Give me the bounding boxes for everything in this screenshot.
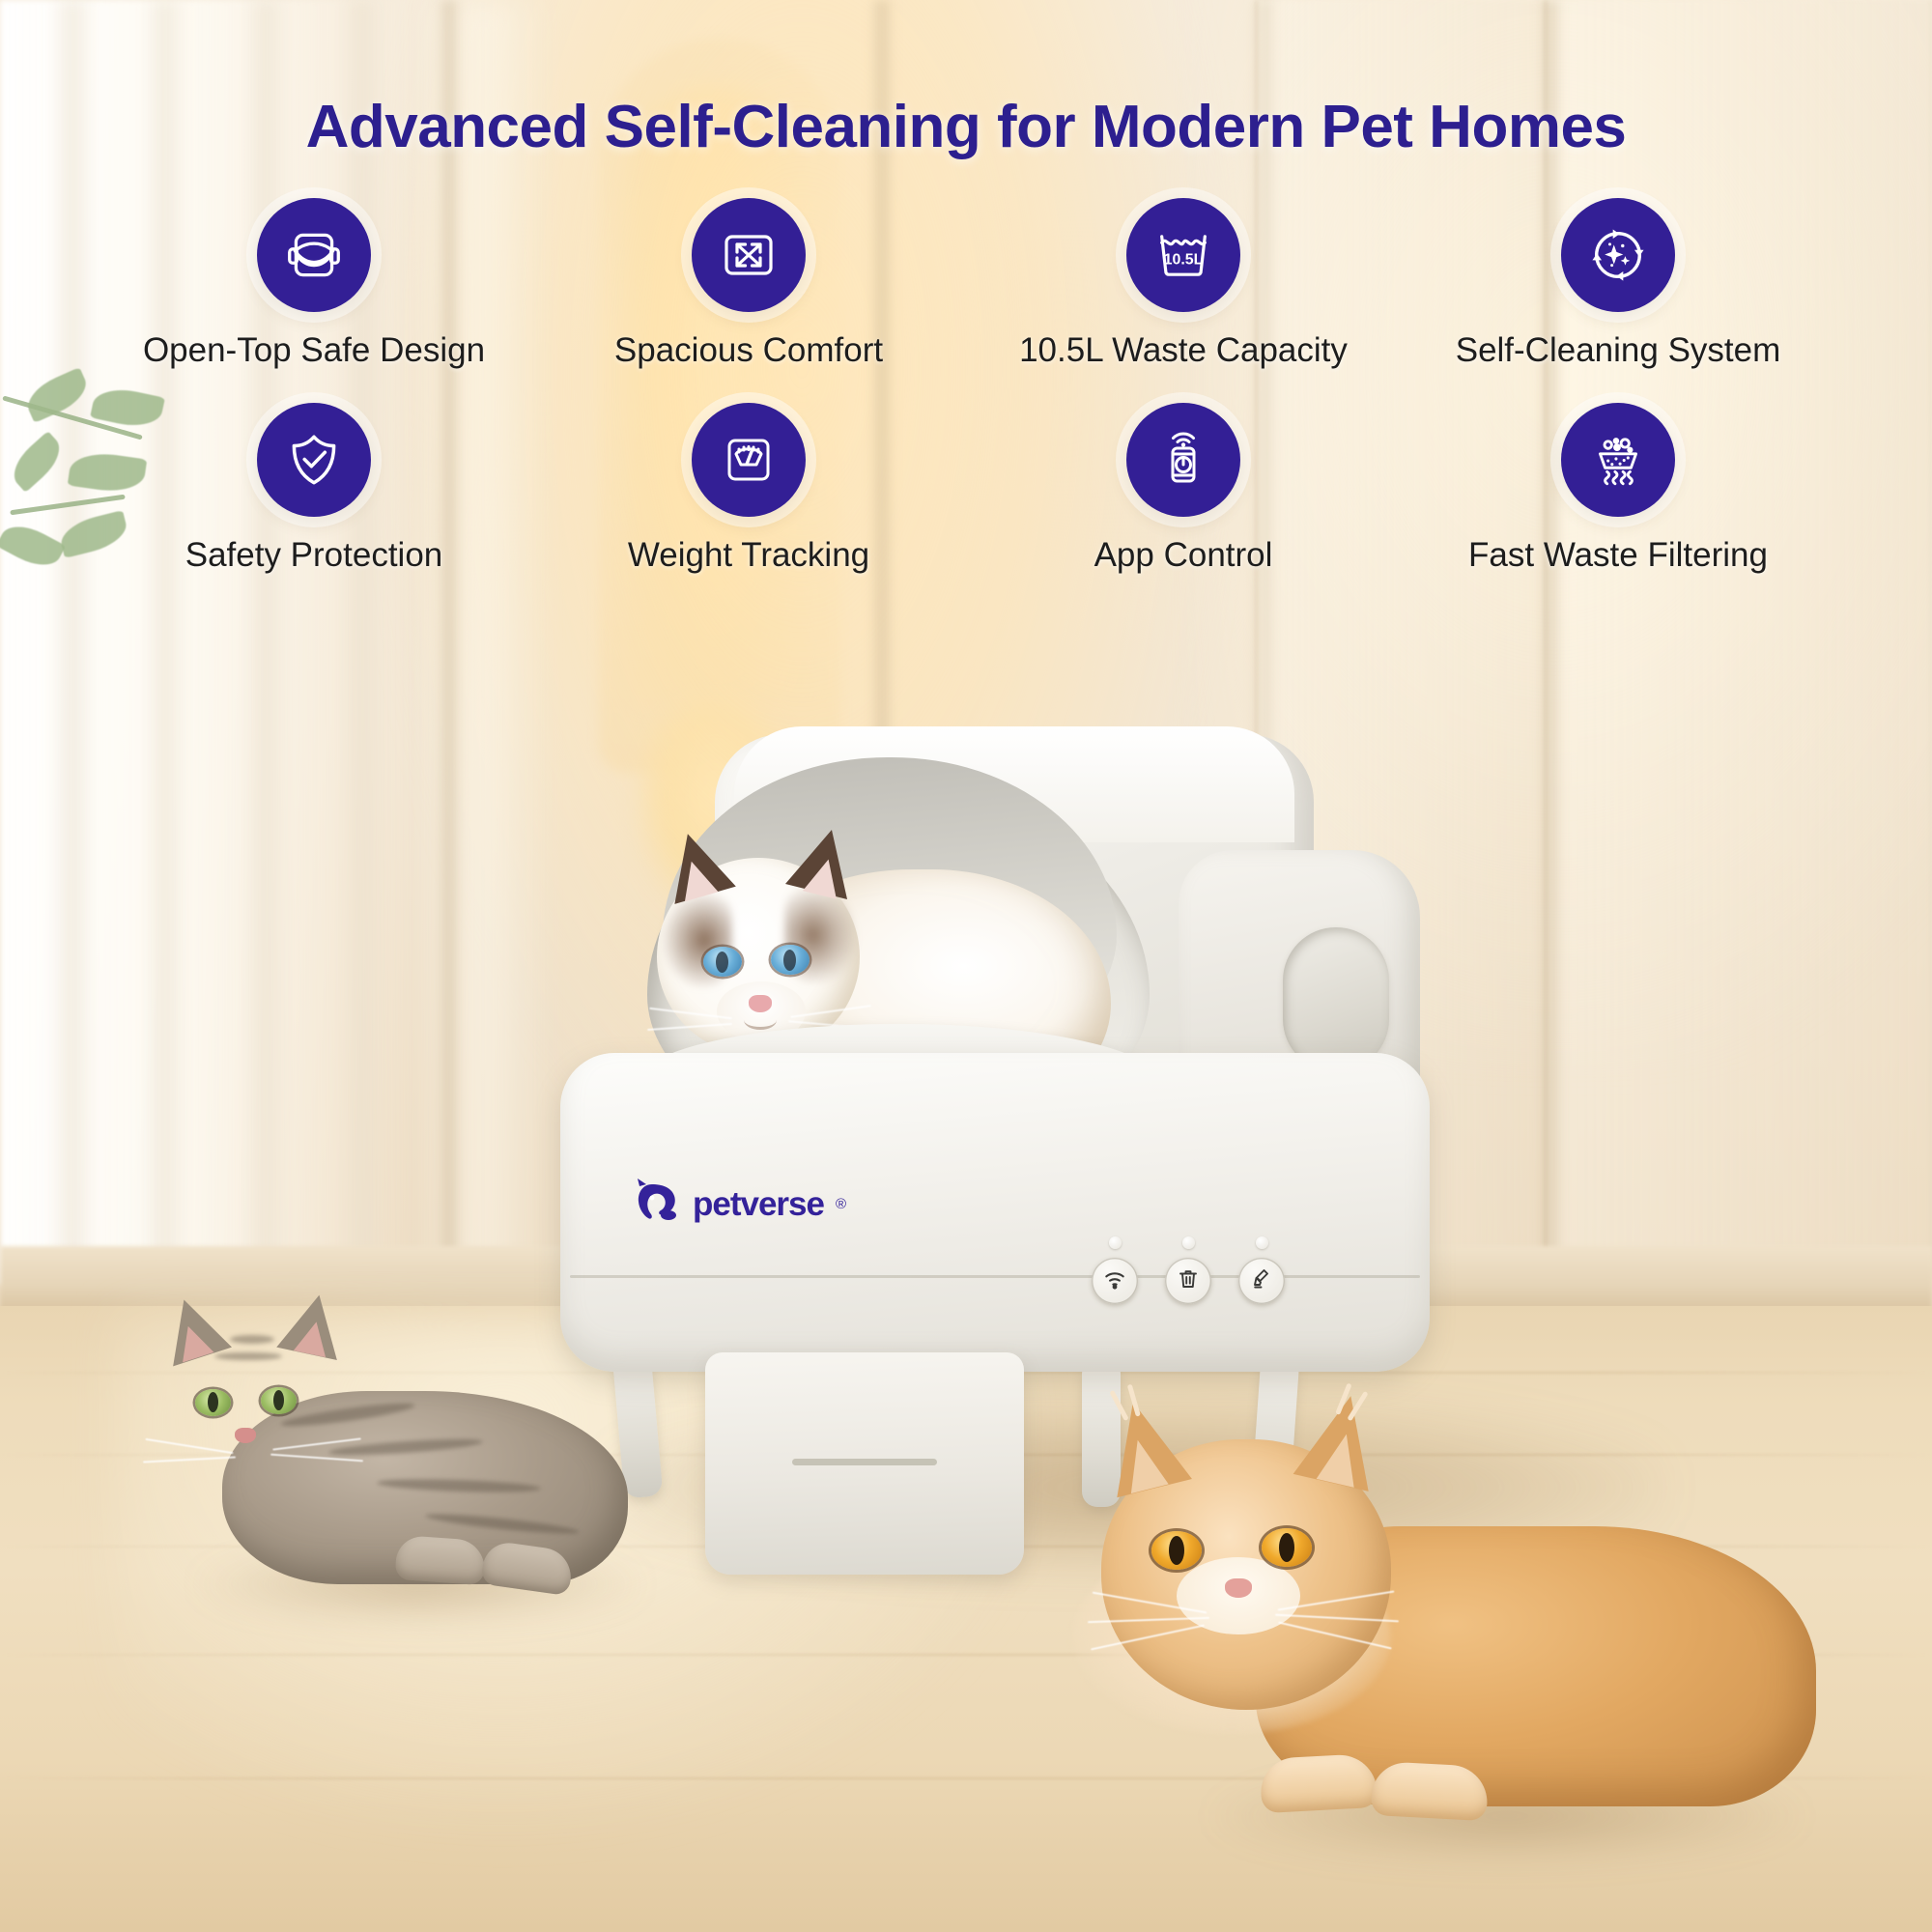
trash-icon bbox=[1177, 1267, 1200, 1295]
brand-name: petverse bbox=[693, 1185, 824, 1224]
feature-badge bbox=[692, 403, 806, 517]
feature-label: 10.5L Waste Capacity bbox=[1019, 331, 1348, 370]
curtain-fold bbox=[340, 0, 384, 1285]
wifi-icon bbox=[1102, 1266, 1127, 1296]
cat-logo-icon bbox=[633, 1177, 683, 1232]
expand-arrows-icon bbox=[718, 224, 780, 286]
feature-label: Spacious Comfort bbox=[614, 331, 883, 370]
feature-label: Weight Tracking bbox=[628, 536, 869, 575]
page-title: Advanced Self-Cleaning for Modern Pet Ho… bbox=[0, 93, 1932, 161]
feature-item: Spacious Comfort bbox=[531, 198, 966, 370]
feature-label: Self-Cleaning System bbox=[1456, 331, 1781, 370]
control-panel bbox=[1092, 1236, 1285, 1304]
phone-remote-icon bbox=[1152, 429, 1214, 491]
wifi-button[interactable] bbox=[1092, 1236, 1138, 1304]
cat-nose bbox=[235, 1428, 256, 1443]
weight-scale-icon bbox=[718, 429, 780, 491]
cat-nose bbox=[1225, 1578, 1252, 1598]
product-side-dial bbox=[1283, 927, 1389, 1072]
feature-grid: Open-Top Safe Design Spacious Comfort bbox=[97, 198, 1835, 575]
ginger-maine-coon-cat bbox=[1092, 1381, 1826, 1864]
door-panel bbox=[1546, 0, 1932, 1275]
wall-panel-soft bbox=[415, 0, 551, 1299]
feature-item: Fast Waste Filtering bbox=[1401, 403, 1835, 575]
brand-logo: petverse ® bbox=[633, 1177, 846, 1232]
curtain-fold bbox=[143, 0, 187, 1285]
drawer-handle[interactable] bbox=[792, 1459, 937, 1465]
waste-basin-icon: 10.5L bbox=[1151, 222, 1216, 288]
feature-badge bbox=[1561, 198, 1675, 312]
curtain-fold bbox=[50, 0, 95, 1285]
feature-label: Safety Protection bbox=[185, 536, 443, 575]
brush-icon bbox=[1250, 1267, 1273, 1295]
feature-item: Weight Tracking bbox=[531, 403, 966, 575]
cat-paw bbox=[1260, 1753, 1378, 1813]
feature-item: Self-Cleaning System bbox=[1401, 198, 1835, 370]
brand-trademark: ® bbox=[836, 1196, 846, 1212]
feature-item: Safety Protection bbox=[97, 403, 531, 575]
feature-label: App Control bbox=[1094, 536, 1273, 575]
filter-sieve-icon bbox=[1586, 428, 1650, 492]
feature-badge bbox=[1126, 403, 1240, 517]
curtain-fold bbox=[243, 0, 288, 1285]
feature-label: Fast Waste Filtering bbox=[1468, 536, 1768, 575]
self-cleaning-cycle-icon bbox=[1585, 222, 1651, 288]
feature-badge bbox=[257, 198, 371, 312]
feature-badge bbox=[257, 403, 371, 517]
grey-tabby-cat bbox=[106, 1265, 667, 1613]
waste-led-indicator bbox=[1182, 1236, 1195, 1249]
waste-capacity-icon-text: 10.5L bbox=[1164, 252, 1204, 269]
shield-check-icon bbox=[282, 428, 346, 492]
feature-label: Open-Top Safe Design bbox=[143, 331, 485, 370]
waste-button[interactable] bbox=[1165, 1236, 1211, 1304]
feature-badge: 10.5L bbox=[1126, 198, 1240, 312]
feature-badge bbox=[1561, 403, 1675, 517]
feature-item: Open-Top Safe Design bbox=[97, 198, 531, 370]
feature-item: App Control bbox=[966, 403, 1401, 575]
feature-badge bbox=[692, 198, 806, 312]
clean-button[interactable] bbox=[1238, 1236, 1285, 1304]
feature-item: 10.5L 10.5L Waste Capacity bbox=[966, 198, 1401, 370]
open-top-box-icon bbox=[282, 223, 346, 287]
clean-led-indicator bbox=[1256, 1236, 1268, 1249]
wifi-led-indicator bbox=[1109, 1236, 1122, 1249]
wall-seam bbox=[437, 0, 462, 1299]
